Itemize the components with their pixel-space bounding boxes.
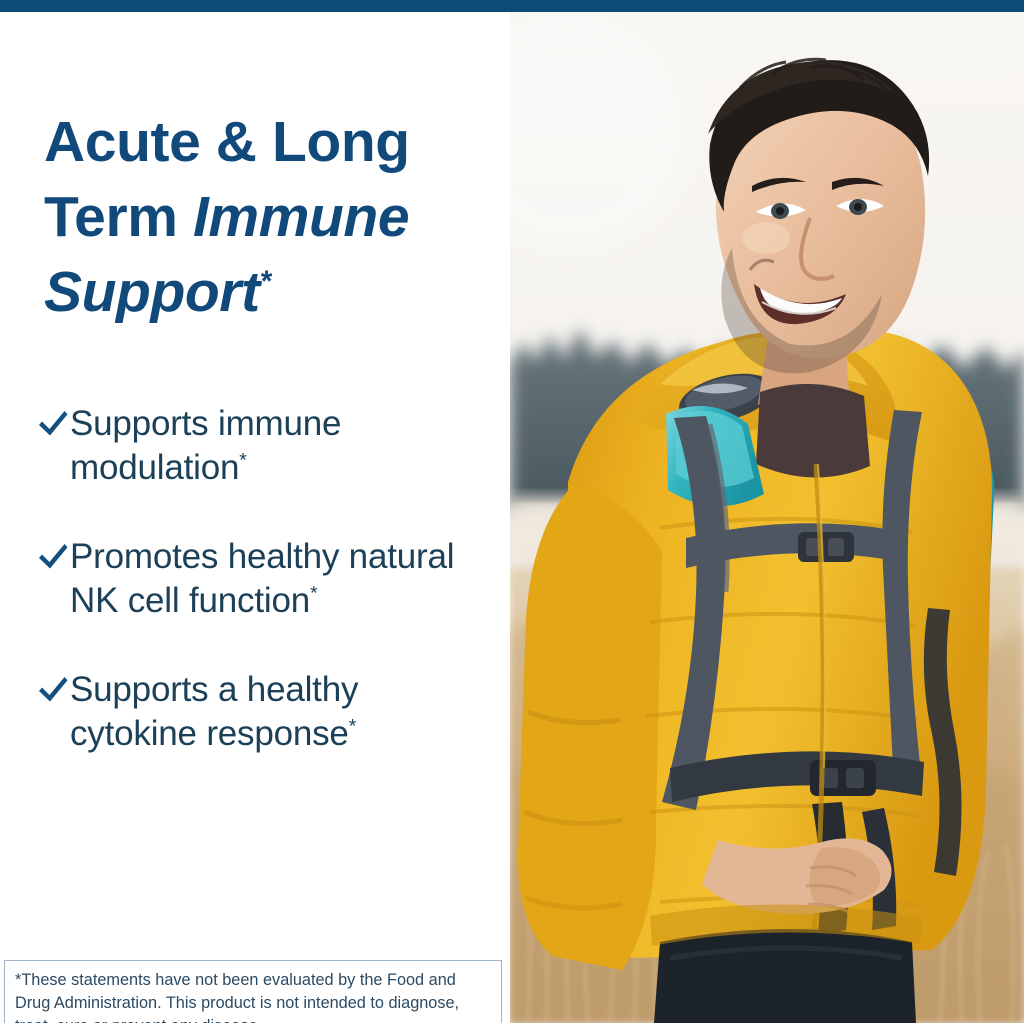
list-item: Supports a healthy cytokine response* — [36, 668, 481, 757]
list-item-text: Supports a healthy cytokine response — [70, 670, 358, 753]
list-item: Supports immune modulation* — [36, 402, 481, 491]
headline-line-1: Acute & Long — [44, 110, 410, 174]
top-accent-bar — [0, 0, 1024, 12]
check-icon — [36, 672, 70, 712]
list-item: Promotes healthy natural NK cell functio… — [36, 535, 481, 624]
headline-asterisk: * — [260, 265, 271, 298]
list-item-text: Supports immune modulation — [70, 404, 341, 487]
page-title: Acute & Long Term Immune Support* — [44, 105, 494, 331]
list-item-asterisk: * — [349, 716, 356, 738]
check-icon — [36, 406, 70, 446]
headline-line-2-emphasis: Immune — [193, 185, 409, 249]
list-item-text: Promotes healthy natural NK cell functio… — [70, 537, 454, 620]
headline-line-2-plain: Term — [44, 185, 193, 249]
promo-canvas: Acute & Long Term Immune Support* Suppor… — [0, 0, 1024, 1023]
list-item-asterisk: * — [239, 450, 246, 472]
check-icon — [36, 539, 70, 579]
hero-photo — [510, 12, 1024, 1023]
list-item-asterisk: * — [310, 583, 317, 605]
left-content-panel: Acute & Long Term Immune Support* Suppor… — [0, 12, 510, 1023]
headline-line-3-emphasis: Support — [44, 260, 260, 324]
fda-disclaimer: *These statements have not been evaluate… — [4, 960, 502, 1023]
list-item-label: Supports a healthy cytokine response* — [70, 668, 481, 757]
list-item-label: Promotes healthy natural NK cell functio… — [70, 535, 481, 624]
benefits-list: Supports immune modulation* Promotes hea… — [36, 402, 481, 757]
list-item-label: Supports immune modulation* — [70, 402, 481, 491]
